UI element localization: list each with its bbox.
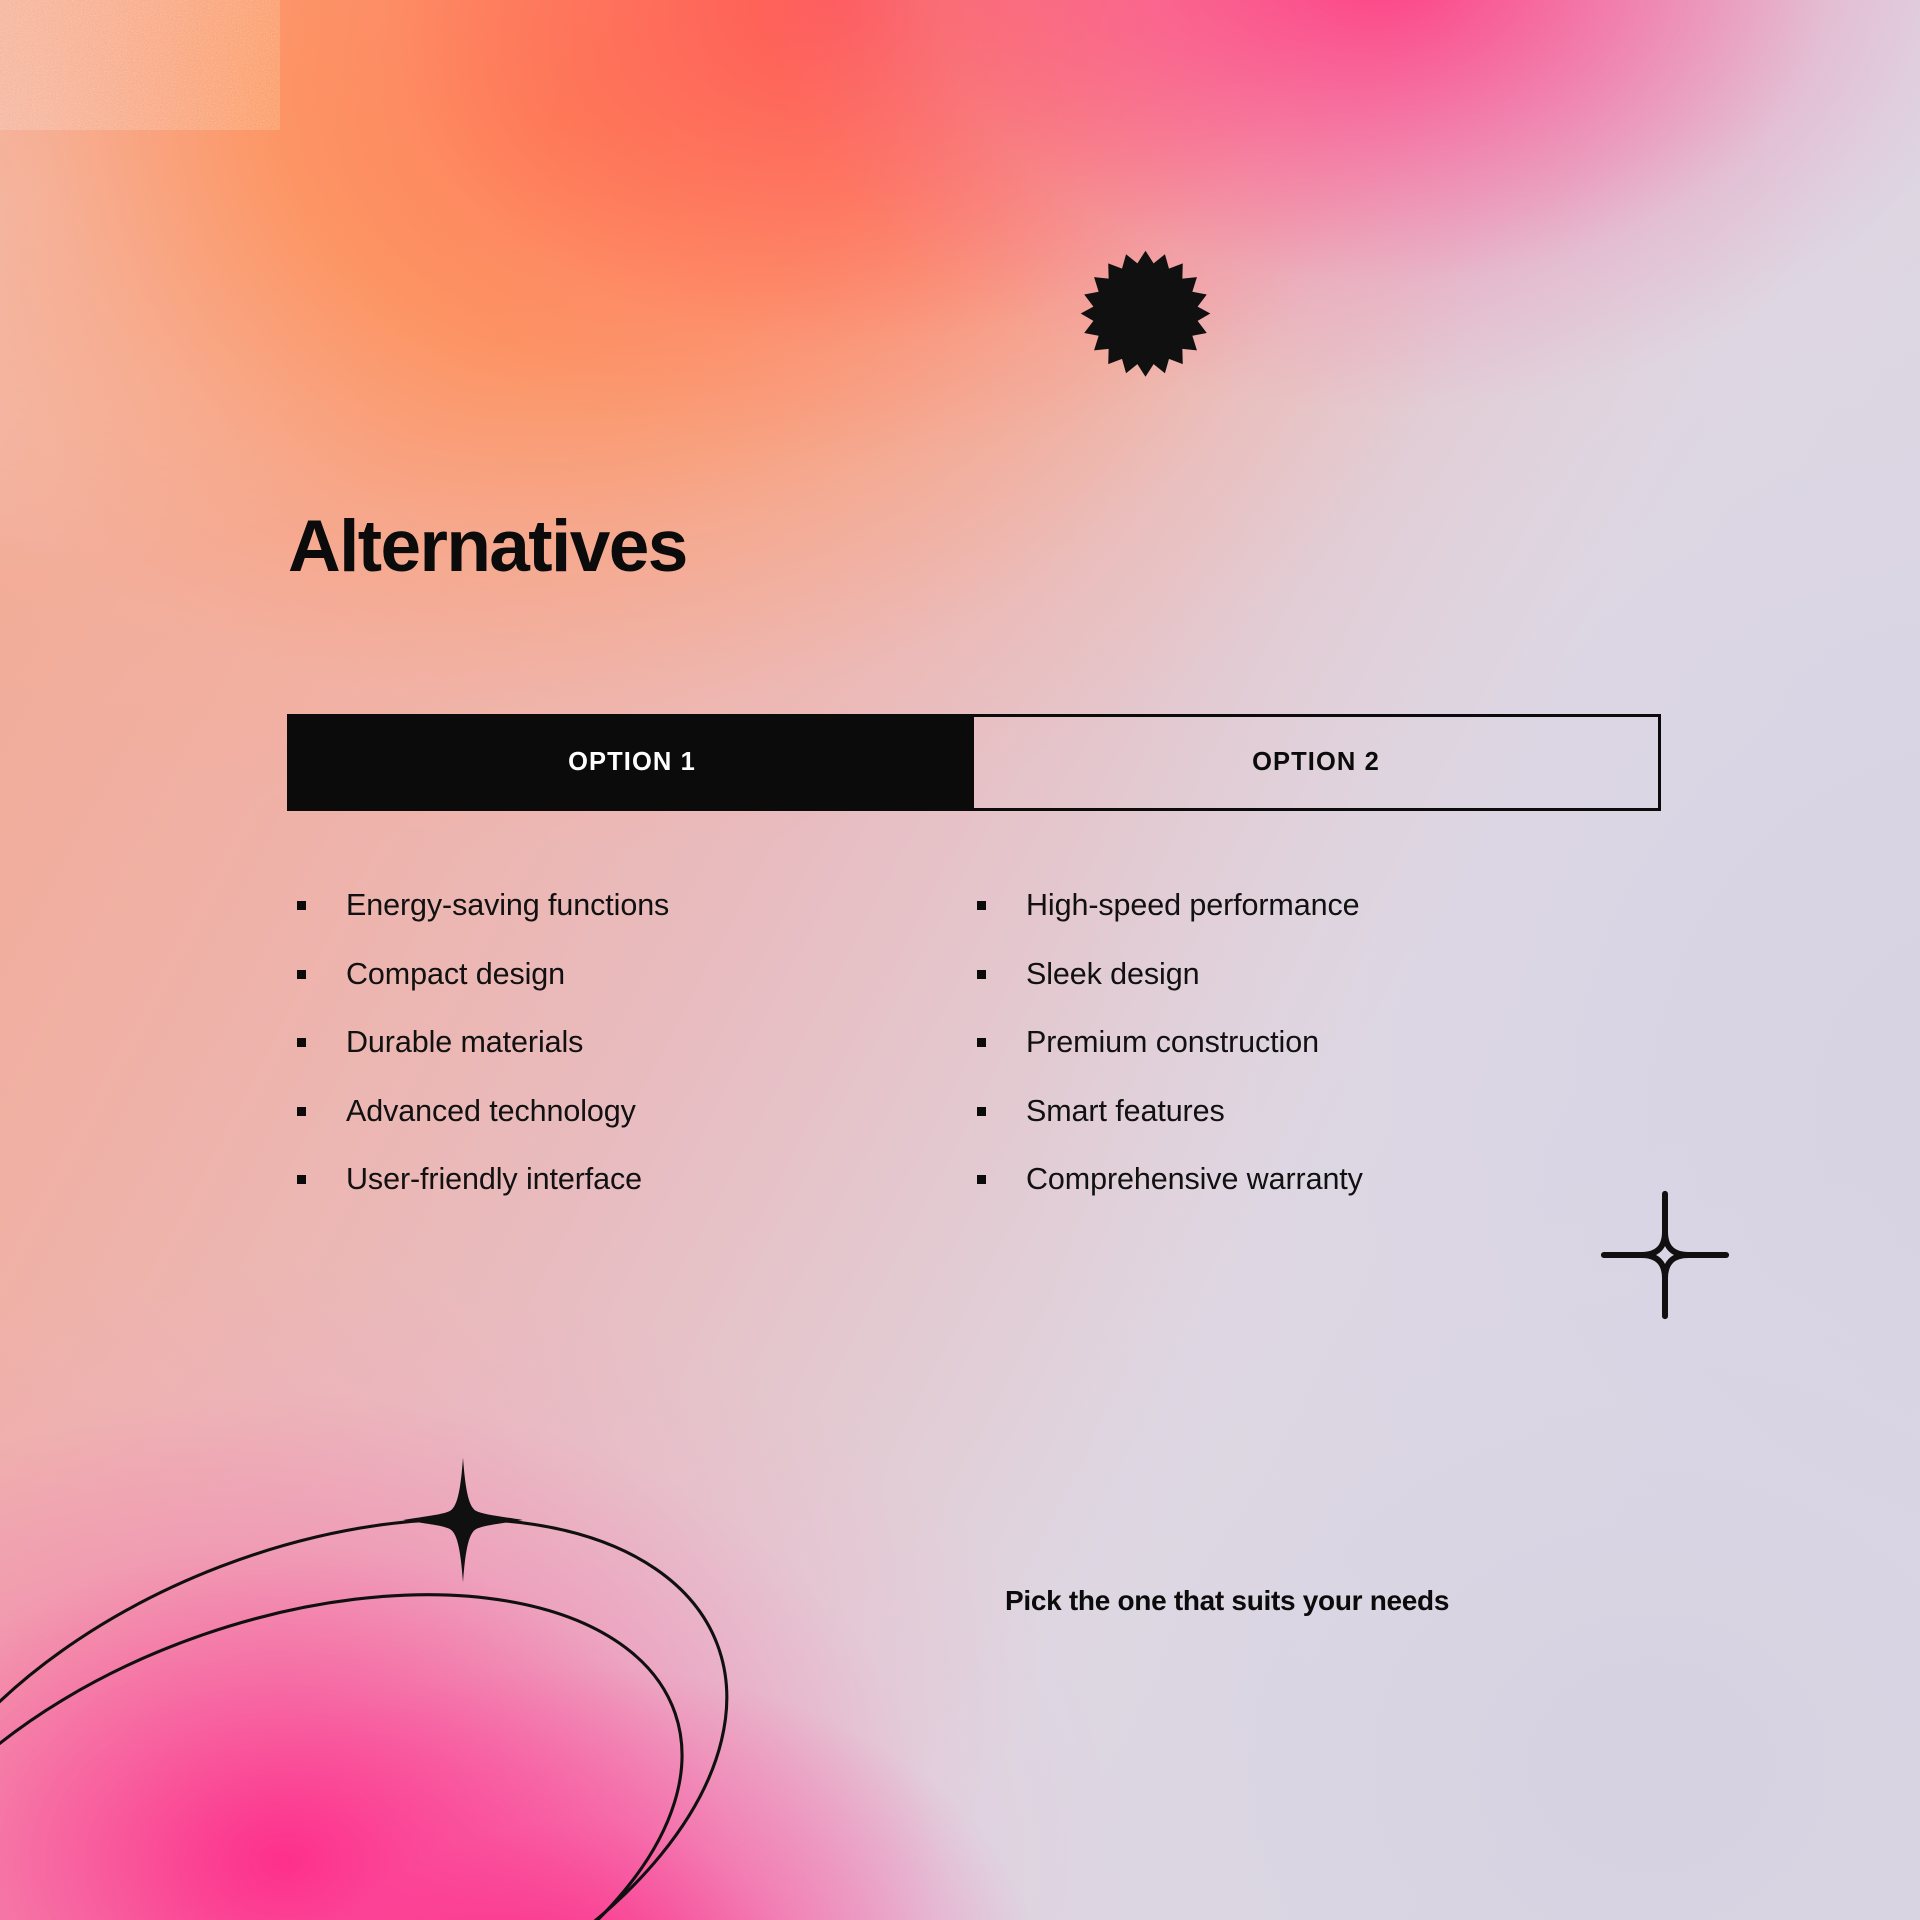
option-tab-bar: OPTION 1 OPTION 2 [287, 714, 1661, 811]
bullet-square-icon [297, 901, 306, 910]
list-item-label: Comprehensive warranty [1026, 1162, 1363, 1197]
comparison-columns: Energy-saving functions Compact design D… [287, 888, 1667, 1231]
list-item: Compact design [297, 957, 977, 1026]
bullet-square-icon [297, 1107, 306, 1116]
tab-option-1[interactable]: OPTION 1 [290, 717, 974, 808]
tagline: Pick the one that suits your needs [1005, 1585, 1449, 1617]
list-item-label: Compact design [346, 957, 565, 992]
list-item: High-speed performance [977, 888, 1667, 957]
list-item-label: Sleek design [1026, 957, 1199, 992]
list-item-label: User-friendly interface [346, 1162, 642, 1197]
list-item: Comprehensive warranty [977, 1162, 1667, 1231]
list-item: User-friendly interface [297, 1162, 977, 1231]
list-item-label: Advanced technology [346, 1094, 636, 1129]
option-2-feature-list: High-speed performance Sleek design Prem… [977, 888, 1667, 1231]
list-item: Durable materials [297, 1025, 977, 1094]
bullet-square-icon [297, 1038, 306, 1047]
list-item-label: High-speed performance [1026, 888, 1359, 923]
bullet-square-icon [977, 901, 986, 910]
list-item: Advanced technology [297, 1094, 977, 1163]
starburst-seal-icon [1078, 248, 1213, 383]
bullet-square-icon [297, 970, 306, 979]
list-item: Energy-saving functions [297, 888, 977, 957]
list-item-label: Durable materials [346, 1025, 583, 1060]
bullet-square-icon [977, 1107, 986, 1116]
page-title: Alternatives [288, 508, 687, 587]
list-item: Smart features [977, 1094, 1667, 1163]
list-item-label: Energy-saving functions [346, 888, 669, 923]
list-item-label: Smart features [1026, 1094, 1225, 1129]
tab-option-2-label: OPTION 2 [1252, 748, 1380, 777]
option-1-feature-list: Energy-saving functions Compact design D… [287, 888, 977, 1231]
bullet-square-icon [977, 970, 986, 979]
four-point-star-outline-icon [1600, 1190, 1730, 1320]
tab-option-1-label: OPTION 1 [568, 748, 696, 777]
tab-option-2[interactable]: OPTION 2 [974, 717, 1658, 808]
sparkle-icon [398, 1455, 528, 1585]
bullet-square-icon [977, 1038, 986, 1047]
list-item: Sleek design [977, 957, 1667, 1026]
grain-texture-overlay-fine [0, 0, 280, 130]
bullet-square-icon [297, 1175, 306, 1184]
list-item-label: Premium construction [1026, 1025, 1319, 1060]
grain-texture-overlay [0, 0, 280, 130]
list-item: Premium construction [977, 1025, 1667, 1094]
bullet-square-icon [977, 1175, 986, 1184]
slide-canvas: Alternatives OPTION 1 OPTION 2 Energy-sa… [0, 0, 1920, 1920]
